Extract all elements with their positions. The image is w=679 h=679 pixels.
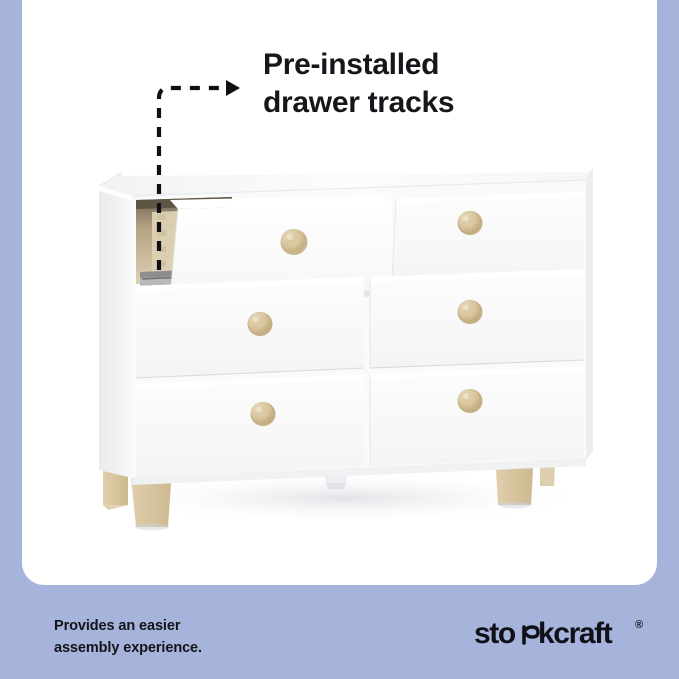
- footer-caption: Provides an easier assembly experience.: [54, 616, 202, 660]
- knob-top-left[interactable]: [281, 229, 308, 255]
- knob-middle-right[interactable]: [458, 300, 483, 324]
- knob-bottom-right[interactable]: [458, 389, 483, 413]
- knob-top-right[interactable]: [458, 211, 483, 235]
- callout-headline: Pre-installed drawer tracks: [263, 46, 633, 122]
- stork-bird-r-icon: [524, 627, 538, 643]
- drawer-bottom-right[interactable]: [370, 366, 584, 466]
- dresser-right-edge: [586, 168, 593, 460]
- knob-middle-left[interactable]: [248, 312, 273, 336]
- callout-arrow: [140, 72, 250, 272]
- footer-caption-line-1: Provides an easier: [54, 616, 202, 638]
- drawer-bottom-left[interactable]: [136, 374, 364, 477]
- svg-text:sto: sto: [474, 617, 516, 650]
- registered-mark: ®: [635, 620, 642, 631]
- product-feature-image: Pre-installed drawer tracks Provides an …: [0, 0, 679, 679]
- svg-text:kcraft: kcraft: [538, 617, 613, 650]
- brand-logo: sto kcraft ®: [474, 617, 642, 651]
- dresser-left-side-panel: [99, 186, 132, 478]
- footer-caption-line-2: assembly experience.: [54, 638, 202, 660]
- drawer-middle-left[interactable]: [136, 277, 364, 378]
- drawer-middle-right[interactable]: [370, 269, 584, 368]
- storkcraft-wordmark: sto kcraft: [474, 617, 634, 651]
- headline-line-1: Pre-installed: [263, 48, 439, 81]
- drawer-top-right[interactable]: [392, 192, 584, 280]
- headline-line-2: drawer tracks: [263, 84, 633, 122]
- knob-bottom-left[interactable]: [251, 402, 276, 426]
- dashed-elbow-arrow-icon: [159, 80, 240, 270]
